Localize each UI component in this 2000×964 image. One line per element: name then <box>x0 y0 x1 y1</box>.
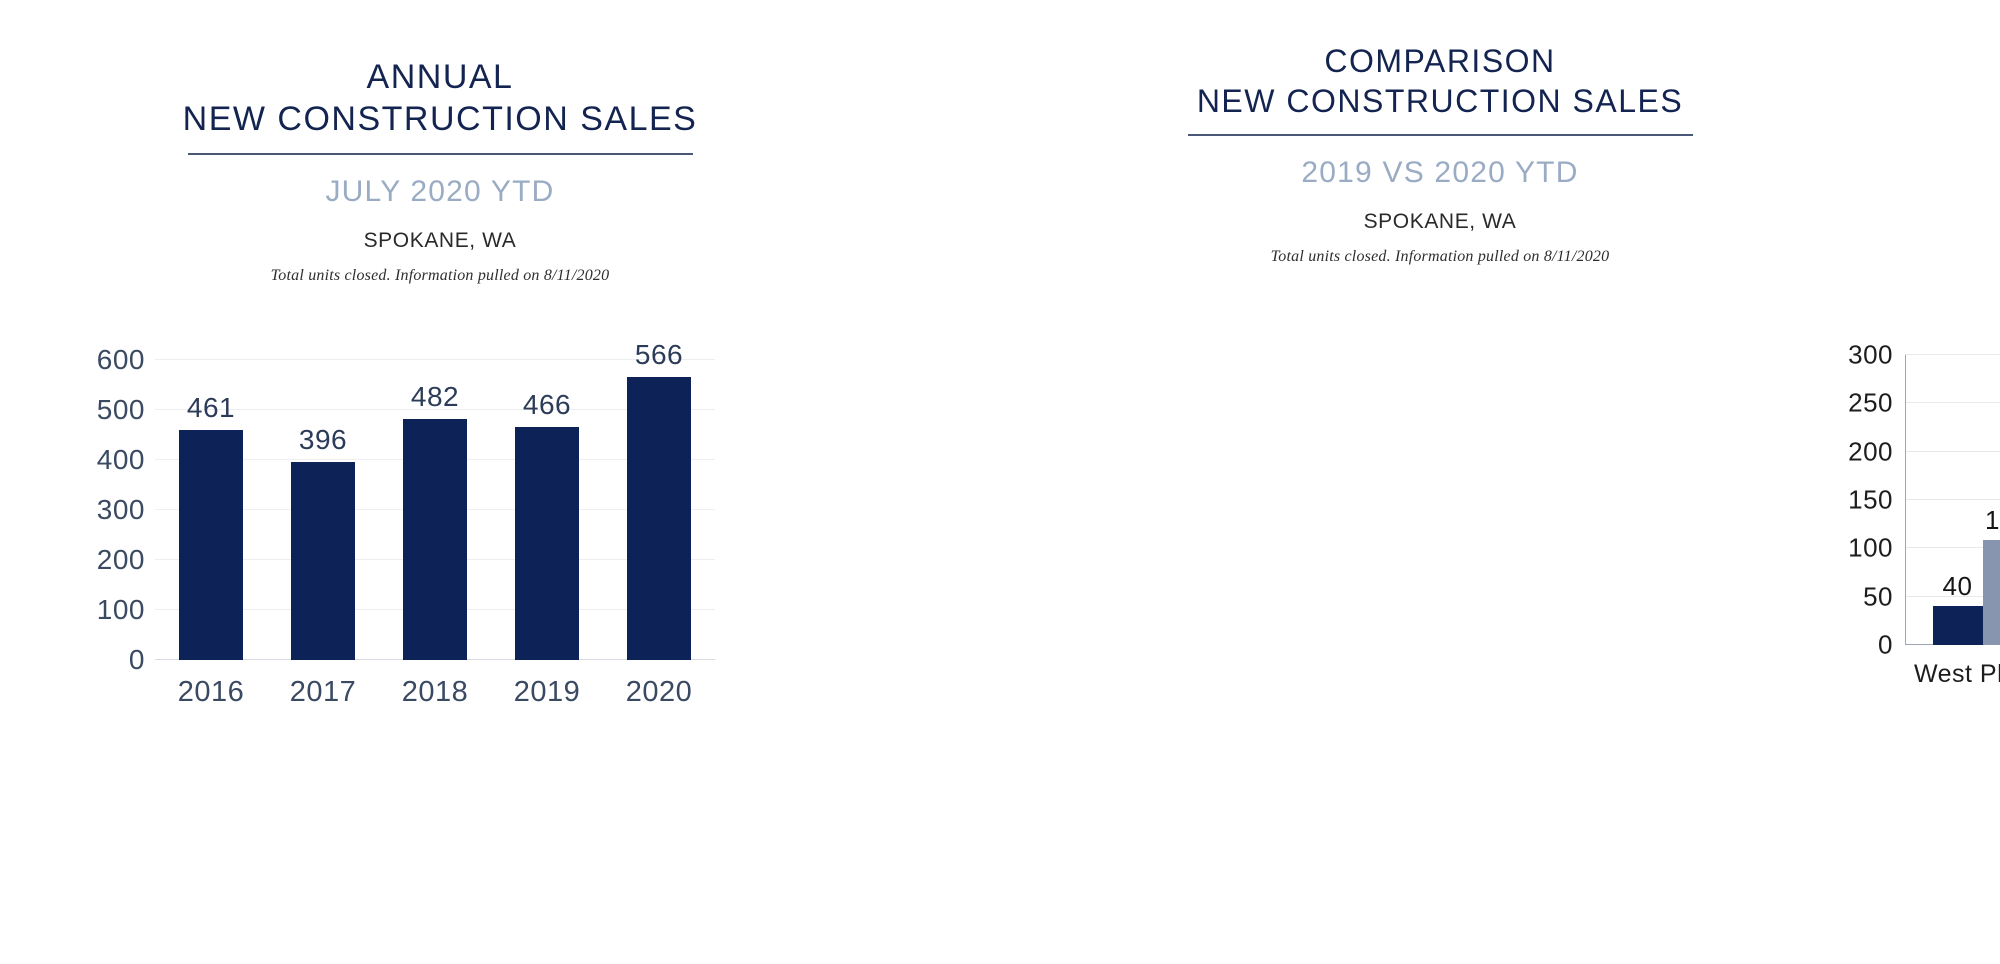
y-axis-tick-150: 150 <box>1815 485 1893 516</box>
x-axis-label-2017: 2017 <box>290 676 357 709</box>
panel-comparison-sales: COMPARISON NEW CONSTRUCTION SALES 2019 V… <box>880 0 2000 964</box>
left-header: ANNUAL NEW CONSTRUCTION SALES JULY 2020 … <box>0 0 880 285</box>
left-city-label: SPOKANE, WA <box>0 229 880 253</box>
right-title-line1: COMPARISON <box>880 42 2000 82</box>
x-axis-label-2016: 2016 <box>178 676 245 709</box>
y-axis-tick-400: 400 <box>69 444 145 476</box>
bar-2016[interactable]: 461 <box>179 430 243 661</box>
bar-slot-2017: 3962017 <box>267 360 379 660</box>
bar-slot-2019: 4662019 <box>491 360 603 660</box>
y-axis-tick-300: 300 <box>69 494 145 526</box>
bar-slot-2018: 4822018 <box>379 360 491 660</box>
bar-west-plains-2019[interactable]: 40 <box>1933 606 1983 645</box>
x-axis-label-west-plains: West Plains <box>1908 659 2000 690</box>
bar-2017[interactable]: 396 <box>291 462 355 660</box>
panel-annual-sales: ANNUAL NEW CONSTRUCTION SALES JULY 2020 … <box>0 0 880 964</box>
y-axis-tick-100: 100 <box>69 594 145 626</box>
left-title-line1: ANNUAL <box>0 56 880 98</box>
y-axis-tick-0: 0 <box>1815 630 1893 661</box>
left-subtitle: JULY 2020 YTD <box>0 175 880 209</box>
right-title: COMPARISON NEW CONSTRUCTION SALES <box>880 42 2000 121</box>
x-axis-label-2020: 2020 <box>626 676 693 709</box>
y-axis-tick-0: 0 <box>69 644 145 676</box>
y-axis-tick-300: 300 <box>1815 340 1893 371</box>
bar-slot-2020: 5662020 <box>603 360 715 660</box>
bar-value-label-west-plains-2019: 40 <box>1943 571 1973 602</box>
annual-sales-bar-chart: 0100200300400500600 46120163962017482201… <box>155 360 715 660</box>
x-axis-label-2018: 2018 <box>402 676 469 709</box>
bar-value-label-2017: 396 <box>299 424 347 456</box>
right-header: COMPARISON NEW CONSTRUCTION SALES 2019 V… <box>880 0 2000 266</box>
right-city-label: SPOKANE, WA <box>880 210 2000 234</box>
group-inner-west-plains: 40109 <box>1933 355 2000 645</box>
bar-west-plains-2020[interactable]: 109 <box>1983 540 2000 645</box>
bar-2018[interactable]: 482 <box>403 419 467 660</box>
right-title-divider <box>1188 134 1693 136</box>
left-title-divider <box>188 153 693 155</box>
y-axis-tick-600: 600 <box>69 344 145 376</box>
bar-2019[interactable]: 466 <box>515 427 579 660</box>
y-axis-tick-250: 250 <box>1815 388 1893 419</box>
bar-slot-2016: 4612016 <box>155 360 267 660</box>
y-axis-tick-200: 200 <box>69 544 145 576</box>
left-bars-container: 46120163962017482201846620195662020 <box>155 360 715 660</box>
right-source-note: Total units closed. Information pulled o… <box>880 248 2000 266</box>
y-axis-tick-200: 200 <box>1815 436 1893 467</box>
y-axis-tick-500: 500 <box>69 394 145 426</box>
bar-value-label-2020: 566 <box>635 339 683 371</box>
x-axis-label-2019: 2019 <box>514 676 581 709</box>
bar-value-label-2019: 466 <box>523 389 571 421</box>
bar-group-west-plains: 40109West Plains <box>1905 355 2000 645</box>
left-title-line2: NEW CONSTRUCTION SALES <box>0 98 880 140</box>
y-axis-tick-100: 100 <box>1815 533 1893 564</box>
y-axis-tick-50: 50 <box>1815 581 1893 612</box>
bar-2020[interactable]: 566 <box>627 377 691 660</box>
left-title: ANNUAL NEW CONSTRUCTION SALES <box>0 56 880 140</box>
infographic-page: ANNUAL NEW CONSTRUCTION SALES JULY 2020 … <box>0 0 2000 964</box>
bar-value-label-2016: 461 <box>187 392 235 424</box>
right-bars-container: 40109West Plains9868SpokaneSouth209272Sp… <box>1905 355 2000 645</box>
comparison-bar-chart: 050100150200250300 40109West Plains9868S… <box>1905 355 2000 645</box>
right-title-line2: NEW CONSTRUCTION SALES <box>880 82 2000 122</box>
bar-value-label-2018: 482 <box>411 381 459 413</box>
right-subtitle: 2019 VS 2020 YTD <box>880 156 2000 190</box>
bar-value-label-west-plains-2020: 109 <box>1985 505 2000 536</box>
left-source-note: Total units closed. Information pulled o… <box>0 267 880 285</box>
